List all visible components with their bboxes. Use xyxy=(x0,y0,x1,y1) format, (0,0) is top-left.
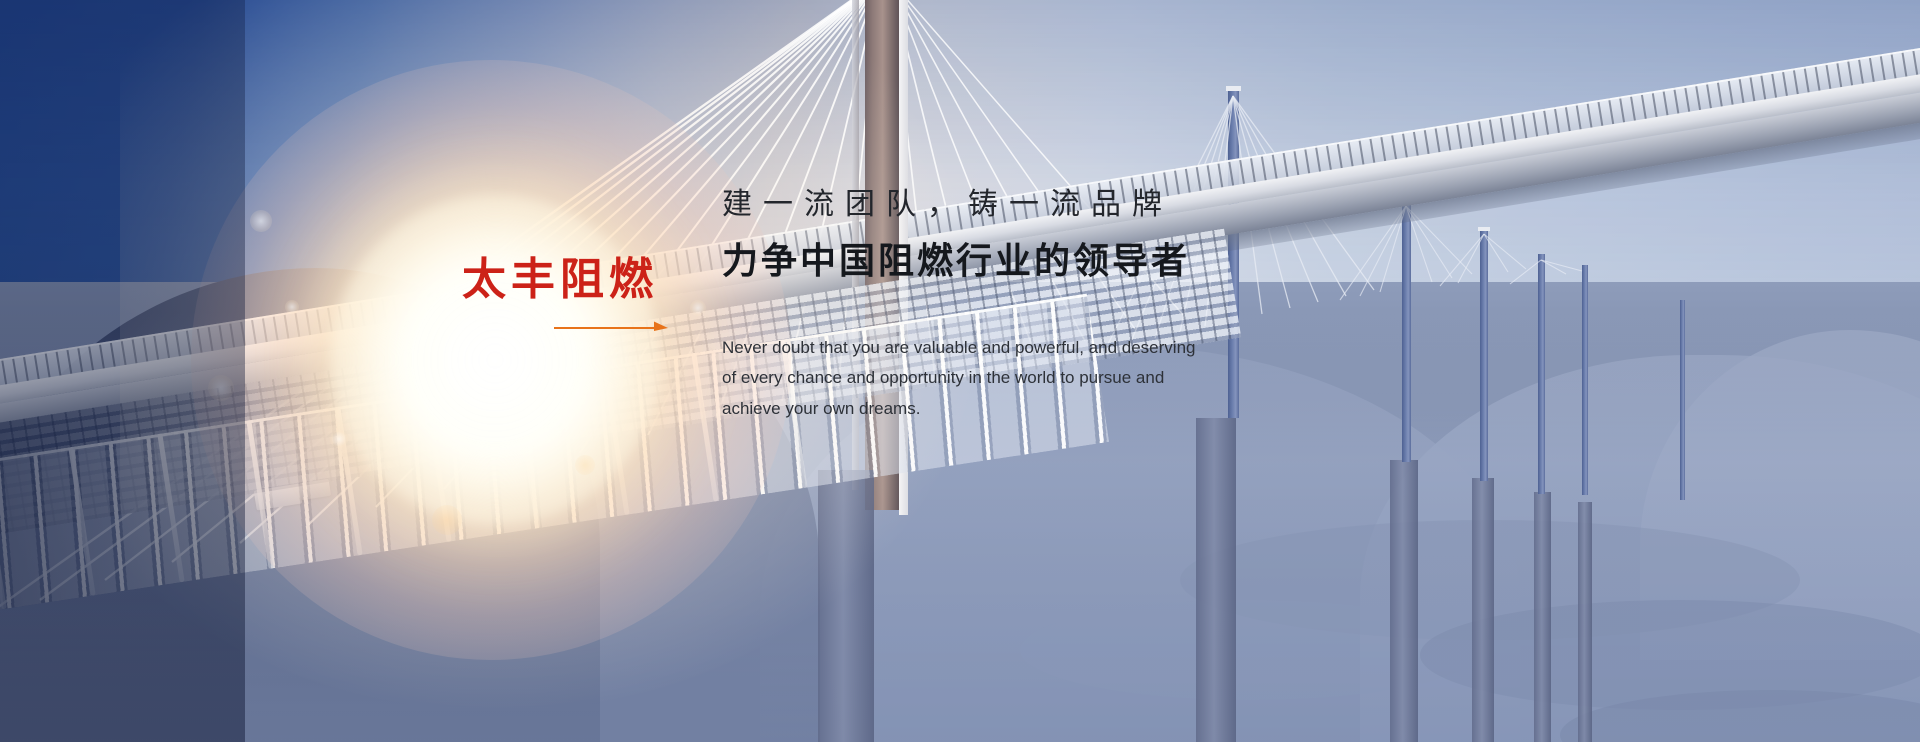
subcopy-line-3: achieve your own dreams. xyxy=(722,394,1322,424)
banner-content: 太丰阻燃 建一流团队，铸一流品牌 力争中国阻燃行业的领导者 Never doub… xyxy=(0,0,1920,742)
headline-line-1: 建一流团队，铸一流品牌 xyxy=(722,186,1482,224)
arrow-right-icon xyxy=(554,320,670,334)
subcopy-line-1: Never doubt that you are valuable and po… xyxy=(722,333,1322,363)
subcopy-line-2: of every chance and opportunity in the w… xyxy=(722,363,1322,393)
headline-line-2: 力争中国阻燃行业的领导者 xyxy=(722,240,1482,283)
logo-text: 太丰阻燃 xyxy=(462,258,692,302)
headline-group: 建一流团队，铸一流品牌 力争中国阻燃行业的领导者 xyxy=(722,186,1482,283)
subcopy-paragraph: Never doubt that you are valuable and po… xyxy=(722,333,1322,424)
brand-logo[interactable]: 太丰阻燃 xyxy=(462,258,692,302)
hero-banner: 太丰阻燃 建一流团队，铸一流品牌 力争中国阻燃行业的领导者 Never doub… xyxy=(0,0,1920,742)
